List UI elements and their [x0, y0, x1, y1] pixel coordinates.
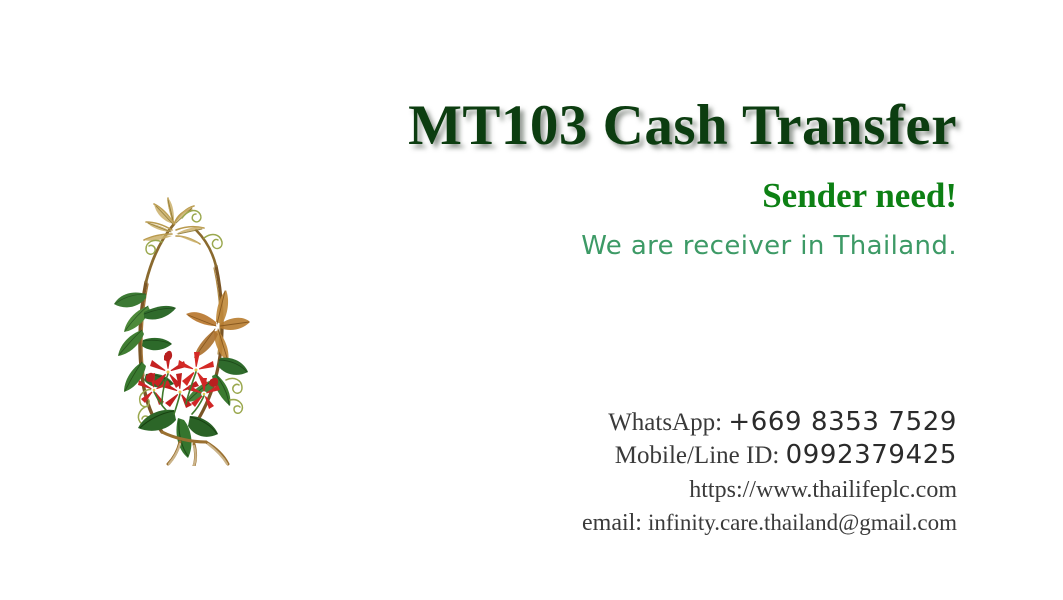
- whatsapp-number[interactable]: +669 8353 7529: [728, 407, 957, 437]
- whatsapp-label: WhatsApp:: [608, 409, 722, 436]
- business-card-page: MT103 Cash Transfer Sender need! We are …: [0, 0, 1063, 600]
- email-label: email:: [582, 510, 642, 536]
- email-line: email: infinity.care.thailand@gmail.com: [380, 507, 957, 539]
- website-link[interactable]: https://www.thailifeplc.com: [380, 474, 957, 506]
- subtitle: Sender need!: [260, 175, 957, 217]
- mobile-line-id-number[interactable]: 0992379425: [786, 440, 957, 470]
- mobile-line-id-label: Mobile/Line ID:: [615, 442, 780, 469]
- email-address[interactable]: infinity.care.thailand@gmail.com: [648, 510, 957, 535]
- tagline: We are receiver in Thailand.: [260, 230, 957, 262]
- contact-block: WhatsApp: +669 8353 7529 Mobile/Line ID:…: [380, 406, 957, 539]
- floral-vine-wreath-illustration: [104, 194, 256, 466]
- mobile-line-id-line: Mobile/Line ID: 0992379425: [380, 439, 957, 472]
- whatsapp-line: WhatsApp: +669 8353 7529: [380, 406, 957, 439]
- page-title: MT103 Cash Transfer: [260, 96, 957, 156]
- header-block: MT103 Cash Transfer Sender need! We are …: [260, 96, 957, 262]
